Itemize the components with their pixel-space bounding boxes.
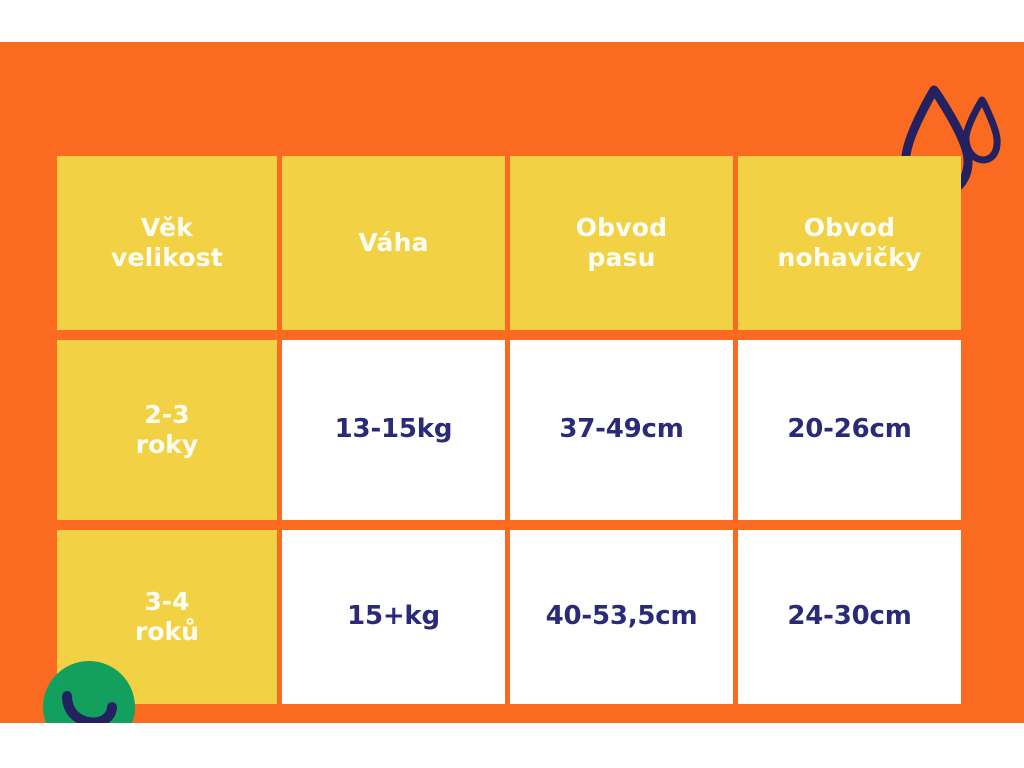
- table-header-waist: Obvod pasu: [510, 156, 733, 330]
- table-header-leg: Obvod nohavičky: [738, 156, 961, 330]
- row2-age-line1: 3-4: [135, 587, 199, 618]
- table-header-waist-line2: pasu: [576, 243, 668, 274]
- table-header-weight-line1: Váha: [358, 228, 428, 259]
- orange-poster-background: Věk velikost Váha Obvod pasu Obvod nohav…: [0, 42, 1024, 723]
- poster-canvas: Věk velikost Váha Obvod pasu Obvod nohav…: [0, 0, 1024, 768]
- table-row: 2-3 roky: [57, 340, 277, 520]
- table-header-waist-line1: Obvod: [576, 213, 668, 244]
- row2-weight-value: 15+kg: [282, 530, 505, 704]
- table-header-weight: Váha: [282, 156, 505, 330]
- row2-waist-value: 40-53,5cm: [510, 530, 733, 704]
- row1-age-line2: roky: [136, 430, 198, 461]
- table-row: 3-4 roků: [57, 530, 277, 704]
- row1-age-line1: 2-3: [136, 400, 198, 431]
- table-header-age: Věk velikost: [57, 156, 277, 330]
- row1-leg-value: 20-26cm: [738, 340, 961, 520]
- table-header-age-line2: velikost: [111, 243, 223, 274]
- table-header-leg-line1: Obvod: [777, 213, 921, 244]
- table-header-leg-line2: nohavičky: [777, 243, 921, 274]
- table-header-age-line1: Věk: [111, 213, 223, 244]
- row2-leg-value: 24-30cm: [738, 530, 961, 704]
- row1-weight-value: 13-15kg: [282, 340, 505, 520]
- row1-waist-value: 37-49cm: [510, 340, 733, 520]
- size-table: Věk velikost Váha Obvod pasu Obvod nohav…: [57, 156, 963, 704]
- row2-age-line2: roků: [135, 617, 199, 648]
